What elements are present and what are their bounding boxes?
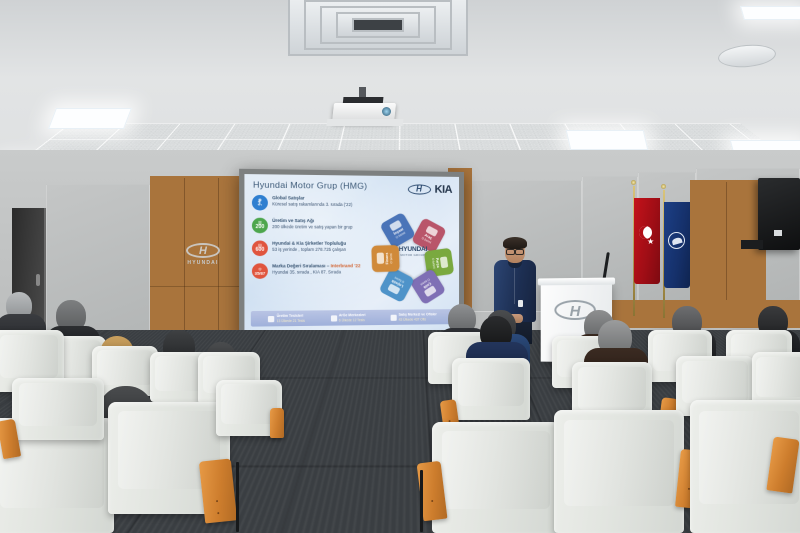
bullet-body: 53 iş yerinde , toplam 278.725 çalışan xyxy=(272,247,346,252)
slide-bullet-item: ◉ 3. Global Satışlar Küresel satış rakam… xyxy=(252,195,375,211)
flask-icon xyxy=(331,315,337,321)
bullet-badge: ◉ 3. xyxy=(252,195,268,211)
slide-bullet-item: ▤ 600 Hyundai & Kia Şirketler Topluluğu … xyxy=(252,241,375,257)
seat-armrest xyxy=(199,458,237,523)
hyundai-logo-icon: H xyxy=(407,184,430,194)
store-icon xyxy=(390,314,396,320)
bullet-body: Küresel satış rakamlarında 3. sırada ('2… xyxy=(272,202,352,208)
audience-seat[interactable] xyxy=(12,378,104,440)
segment-sublabel: O birimi xyxy=(390,253,394,264)
bullet-heading-main: Marka Değeri Sıralaması – xyxy=(272,263,330,268)
ceiling-projector-icon xyxy=(333,95,395,125)
bullet-body: 200 ülkede üretim ve satış yapan bir gru… xyxy=(272,224,352,230)
bullet-badge: ♔ 35/87 xyxy=(252,263,268,279)
presenter-badge xyxy=(518,300,523,307)
bullet-body: Hyundai 35. sırada , KIA 87. Sırada xyxy=(272,270,341,275)
footer-stat-value: 43 Ülkede 437 Ofis xyxy=(399,317,437,321)
trophy-icon: ♔ xyxy=(258,267,262,271)
audience-seat[interactable] xyxy=(432,422,560,533)
slide-title: Hyundai Motor Grup (HMG) xyxy=(253,179,367,191)
badge-number: 200 xyxy=(255,225,264,230)
slide-bullet-item: ♔ 35/87 Marka Değeri Sıralaması – Interb… xyxy=(252,263,375,279)
donut-center-label: HYUNDAI MOTOR GROUP xyxy=(395,246,431,268)
globe-icon: ◉ xyxy=(258,198,262,202)
kia-logo-text: KIA xyxy=(435,184,452,196)
door-handle-icon[interactable] xyxy=(36,274,40,286)
slide-footer-bar: Üretim Tesisleri 13 Ülkede 21 Tesis ArGe… xyxy=(251,309,453,327)
slide-brand-logos: H KIA xyxy=(407,183,452,196)
footer-stat: ArGe Merkezleri 6 Ülkede 12 Tesis xyxy=(331,313,366,322)
hvac-diffuser-icon xyxy=(288,0,468,56)
donut-center-main: HYUNDAI xyxy=(395,246,431,253)
ceiling-light-panel xyxy=(566,130,649,150)
slide-bullet-item: ▥ 200 Üretim ve Satış Ağı 200 ülkede üre… xyxy=(252,218,375,234)
donut-segment: İnşaat O birimi xyxy=(379,212,416,249)
conference-room-photo: HYUNDAI ★ Hyundai Motor Grup (HMG) H xyxy=(0,0,800,533)
ceiling-speaker-icon xyxy=(717,43,777,70)
badge-number: 3. xyxy=(258,202,262,207)
projection-screen[interactable]: Hyundai Motor Grup (HMG) H KIA ◉ 3. Glob… xyxy=(239,169,464,339)
audience-seat[interactable] xyxy=(554,410,684,533)
presentation-slide[interactable]: Hyundai Motor Grup (HMG) H KIA ◉ 3. Glob… xyxy=(244,174,459,334)
bullet-text: Hyundai & Kia Şirketler Topluluğu 53 iş … xyxy=(272,241,346,257)
ceiling-light-panel xyxy=(48,108,132,129)
company-emblem-icon xyxy=(668,232,685,249)
bank-icon xyxy=(377,253,385,264)
donut-center-sub: MOTOR GROUP xyxy=(395,253,431,257)
badge-number: 35/87 xyxy=(255,271,266,275)
bullet-text: Global Satışlar Küresel satış rakamların… xyxy=(272,195,352,211)
business-segments-donut: İnşaat O birimi Araç O birimi Parça O bi… xyxy=(370,216,453,299)
bullet-heading-highlight: Interbrand '22 xyxy=(331,263,361,268)
bullet-badge: ▤ 600 xyxy=(252,241,268,257)
speaker-bracket xyxy=(741,240,763,249)
ceiling-light-panel xyxy=(740,6,800,20)
buildings-icon: ▤ xyxy=(258,244,262,248)
gear-icon xyxy=(439,256,447,268)
bullet-badge: ▥ 200 xyxy=(252,218,268,234)
footer-stat-value: 6 Ülkede 12 Tesis xyxy=(339,318,366,322)
star-icon: ★ xyxy=(647,238,654,245)
factory-icon xyxy=(268,315,274,321)
segment-sublabel: O birimi xyxy=(430,258,435,269)
bullet-text: Marka Değeri Sıralaması – Interbrand '22… xyxy=(272,263,360,279)
bullet-text: Üretim ve Satış Ağı 200 ülkede üretim ve… xyxy=(272,218,352,234)
wall-hyundai-logo: HYUNDAI xyxy=(180,243,226,269)
footer-stat: Satış Merkezi ve Ofisler 43 Ülkede 437 O… xyxy=(390,313,436,322)
factory-icon: ▥ xyxy=(258,221,262,225)
audience-seat[interactable] xyxy=(452,358,530,420)
donut-segment: Lojistik O birimi xyxy=(379,267,415,303)
slide-bullet-list: ◉ 3. Global Satışlar Küresel satış rakam… xyxy=(252,195,375,286)
hyundai-logo-letter: H xyxy=(408,183,429,195)
footer-stat: Üretim Tesisleri 13 Ülkede 21 Tesis xyxy=(268,314,305,323)
hyundai-h-icon xyxy=(186,243,220,258)
badge-number: 600 xyxy=(255,248,264,253)
glasses-icon xyxy=(506,249,524,253)
footer-stat-value: 13 Ülkede 21 Tesis xyxy=(277,318,305,322)
wall-speaker-icon xyxy=(758,178,800,250)
